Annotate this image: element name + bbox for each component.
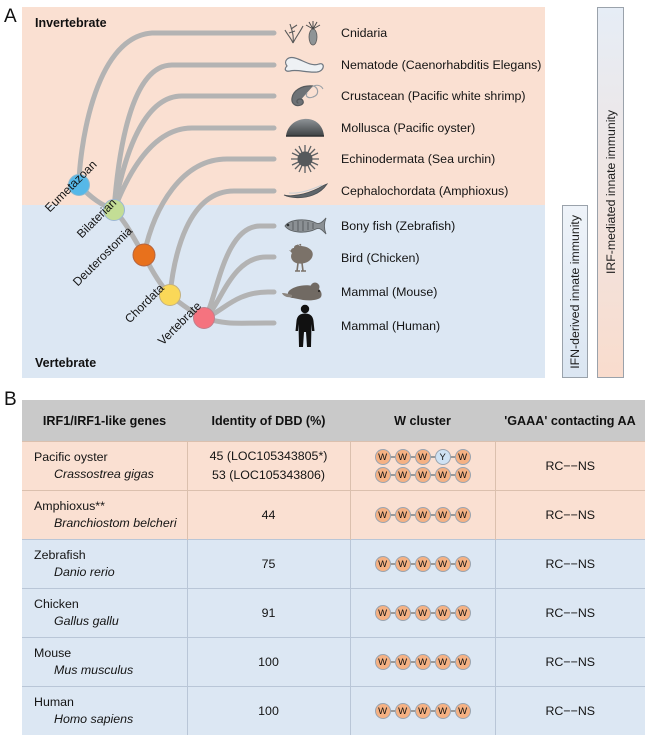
panel-a-letter: A [4,7,17,26]
w-cluster-link [391,661,395,663]
cnidaria-icon [277,21,333,45]
w-cluster-row: WWWWW [351,556,495,572]
identity-cell: 44 [187,491,350,540]
gaaa-contacting-aa-cell: RC−−NS [495,540,645,589]
w-cluster-row: WWWWW [351,605,495,621]
amphioxus-icon [277,179,333,203]
residue-circle-w: W [435,556,451,572]
residue-circle-w: W [375,449,391,465]
identity-value: 91 [188,604,350,623]
residue-circle-w: W [375,467,391,483]
tip-label-mammal-human: Mammal (Human) [341,319,440,333]
identity-value: 44 [188,506,350,525]
tip-row-bird: Bird (Chicken) [277,246,420,270]
tip-label-mollusca: Mollusca (Pacific oyster) [341,121,475,135]
w-cluster-link [431,474,435,476]
species-cell: ChickenGallus gallu [22,589,187,638]
species-cell: MouseMus musculus [22,638,187,687]
residue-circle-w: W [395,556,411,572]
w-cluster-row: WWWWW [351,654,495,670]
residue-circle-w: W [415,467,431,483]
w-cluster-link [411,710,415,712]
residue-circle-w: W [375,507,391,523]
zebrafish-icon [277,214,333,238]
tip-row-cephalochordata: Cephalochordata (Amphioxus) [277,179,508,203]
tip-row-nematode: Nematode (Caenorhabditis Elegans) [277,53,541,77]
identity-value: 45 (LOC105343805*) [188,447,350,466]
w-cluster-link [451,710,455,712]
col-header-identity: Identity of DBD (%) [187,400,350,442]
w-cluster-link [391,612,395,614]
w-cluster-link [411,456,415,458]
residue-circle-w: W [435,507,451,523]
tip-row-mollusca: Mollusca (Pacific oyster) [277,116,475,140]
ifn-derived-innate-immunity-bar: IFN-derived innate immunity [562,205,588,378]
table-body: Pacific oysterCrassostrea gigas45 (LOC10… [22,442,645,735]
residue-circle-w: W [435,467,451,483]
residue-circle-w: W [455,507,471,523]
tip-label-bony-fish: Bony fish (Zebrafish) [341,219,455,233]
w-cluster-cell: WWWYWWWWWW [350,442,495,491]
tip-row-crustacean: Crustacean (Pacific white shrimp) [277,84,526,108]
tip-row-echinodermata: Echinodermata (Sea urchin) [277,147,495,171]
w-cluster-link [411,661,415,663]
tip-label-echinodermata: Echinodermata (Sea urchin) [341,152,495,166]
gaaa-contacting-aa-cell: RC−−NS [495,442,645,491]
w-cluster-link [451,514,455,516]
species-common-name: Chicken [34,596,187,613]
tip-row-bony-fish: Bony fish (Zebrafish) [277,214,455,238]
tip-label-cnidaria: Cnidaria [341,26,387,40]
residue-circle-w: W [415,654,431,670]
residue-circle-y: Y [435,449,451,465]
species-common-name: Amphioxus** [34,498,187,515]
species-common-name: Zebrafish [34,547,187,564]
irf1-comparison-table: IRF1/IRF1-like genes Identity of DBD (%)… [22,400,645,735]
identity-cell: 91 [187,589,350,638]
residue-circle-w: W [455,467,471,483]
species-cell: ZebrafishDanio rerio [22,540,187,589]
tip-row-cnidaria: Cnidaria [277,21,387,45]
table-row: ZebrafishDanio rerio75WWWWWRC−−NS [22,540,645,589]
residue-circle-w: W [435,654,451,670]
table-row: Pacific oysterCrassostrea gigas45 (LOC10… [22,442,645,491]
w-cluster-link [431,514,435,516]
w-cluster-link [391,563,395,565]
species-latin-name: Crassostrea gigas [34,466,187,483]
w-cluster-cell: WWWWW [350,491,495,540]
w-cluster-link [411,514,415,516]
nematode-icon [277,53,333,77]
w-cluster-link [431,456,435,458]
w-cluster-link [451,563,455,565]
table-row: Amphioxus**Branchiostom belcheri44WWWWWR… [22,491,645,540]
tip-label-crustacean: Crustacean (Pacific white shrimp) [341,89,526,103]
col-header-wcluster: W cluster [350,400,495,442]
gaaa-contacting-aa-cell: RC−−NS [495,638,645,687]
w-cluster-link [411,612,415,614]
residue-circle-w: W [435,605,451,621]
residue-circle-w: W [455,556,471,572]
w-cluster-link [391,514,395,516]
identity-cell: 75 [187,540,350,589]
species-latin-name: Mus musculus [34,662,187,679]
w-cluster-link [431,661,435,663]
tip-label-cephalochordata: Cephalochordata (Amphioxus) [341,184,508,198]
species-common-name: Pacific oyster [34,449,187,466]
residue-circle-w: W [415,703,431,719]
sea-urchin-icon [277,147,333,171]
ifn-derived-label: IFN-derived innate immunity [568,215,582,369]
tip-label-nematode: Nematode (Caenorhabditis Elegans) [341,58,541,72]
irf-mediated-label: IRF-mediated innate immunity [604,110,618,274]
w-cluster-link [391,456,395,458]
mouse-icon [277,280,333,304]
w-cluster-row: WWWYW [351,449,495,465]
oyster-icon [277,116,333,140]
residue-circle-w: W [375,556,391,572]
residue-circle-w: W [395,507,411,523]
residue-circle-w: W [395,703,411,719]
residue-circle-w: W [415,605,431,621]
residue-circle-w: W [435,703,451,719]
w-cluster-cell: WWWWW [350,589,495,638]
identity-value: 75 [188,555,350,574]
residue-circle-w: W [395,449,411,465]
w-cluster-cell: WWWWW [350,540,495,589]
identity-value: 100 [188,653,350,672]
species-latin-name: Branchiostom belcheri [34,515,187,532]
tip-row-mammal-human: Mammal (Human) [277,304,440,348]
residue-circle-w: W [375,605,391,621]
panel-b-letter: B [4,390,17,409]
identity-value: 53 (LOC105343806) [188,466,350,485]
identity-value: 100 [188,702,350,721]
w-cluster-link [451,456,455,458]
w-cluster-link [431,563,435,565]
residue-circle-w: W [375,703,391,719]
w-cluster-link [431,612,435,614]
gaaa-contacting-aa-cell: RC−−NS [495,491,645,540]
tip-row-mammal-mouse: Mammal (Mouse) [277,280,437,304]
w-cluster-row: WWWWW [351,703,495,719]
gaaa-contacting-aa-cell: RC−−NS [495,589,645,638]
identity-cell: 100 [187,638,350,687]
col-header-genes: IRF1/IRF1-like genes [22,400,187,442]
node-deuterostomia [133,244,155,266]
w-cluster-link [451,474,455,476]
residue-circle-w: W [455,703,471,719]
table-header-row: IRF1/IRF1-like genes Identity of DBD (%)… [22,400,645,442]
residue-circle-w: W [415,449,431,465]
w-cluster-row: WWWWW [351,467,495,483]
residue-circle-w: W [455,654,471,670]
species-common-name: Mouse [34,645,187,662]
w-cluster-cell: WWWWW [350,638,495,687]
panel-a-phylogenetic-tree: Invertebrate Vertebrate [22,7,545,378]
species-cell: Pacific oysterCrassostrea gigas [22,442,187,491]
w-cluster-row: WWWWW [351,507,495,523]
w-cluster-link [391,710,395,712]
w-cluster-link [391,474,395,476]
species-latin-name: Danio rerio [34,564,187,581]
shrimp-icon [277,84,333,108]
table-row: ChickenGallus gallu91WWWWWRC−−NS [22,589,645,638]
residue-circle-w: W [395,467,411,483]
chicken-icon [277,246,333,270]
col-header-gaaa-aa: 'GAAA' contacting AA [495,400,645,442]
residue-circle-w: W [455,449,471,465]
irf-mediated-innate-immunity-bar: IRF-mediated innate immunity [597,7,624,378]
panel-b-comparison-table: IRF1/IRF1-like genes Identity of DBD (%)… [22,400,645,686]
tip-label-mammal-mouse: Mammal (Mouse) [341,285,437,299]
w-cluster-link [411,474,415,476]
residue-circle-w: W [375,654,391,670]
w-cluster-link [411,563,415,565]
residue-circle-w: W [395,654,411,670]
w-cluster-link [451,661,455,663]
residue-circle-w: W [415,556,431,572]
identity-cell: 45 (LOC105343805*)53 (LOC105343806) [187,442,350,491]
w-cluster-link [431,710,435,712]
human-icon [277,304,333,348]
species-latin-name: Gallus gallu [34,613,187,630]
table-row: MouseMus musculus100WWWWWRC−−NS [22,638,645,687]
species-cell: Amphioxus**Branchiostom belcheri [22,491,187,540]
species-latin-name: Homo sapiens [34,711,187,728]
residue-circle-w: W [415,507,431,523]
tip-label-bird: Bird (Chicken) [341,251,420,265]
species-common-name: Human [34,694,187,711]
residue-circle-w: W [395,605,411,621]
w-cluster-link [451,612,455,614]
residue-circle-w: W [455,605,471,621]
